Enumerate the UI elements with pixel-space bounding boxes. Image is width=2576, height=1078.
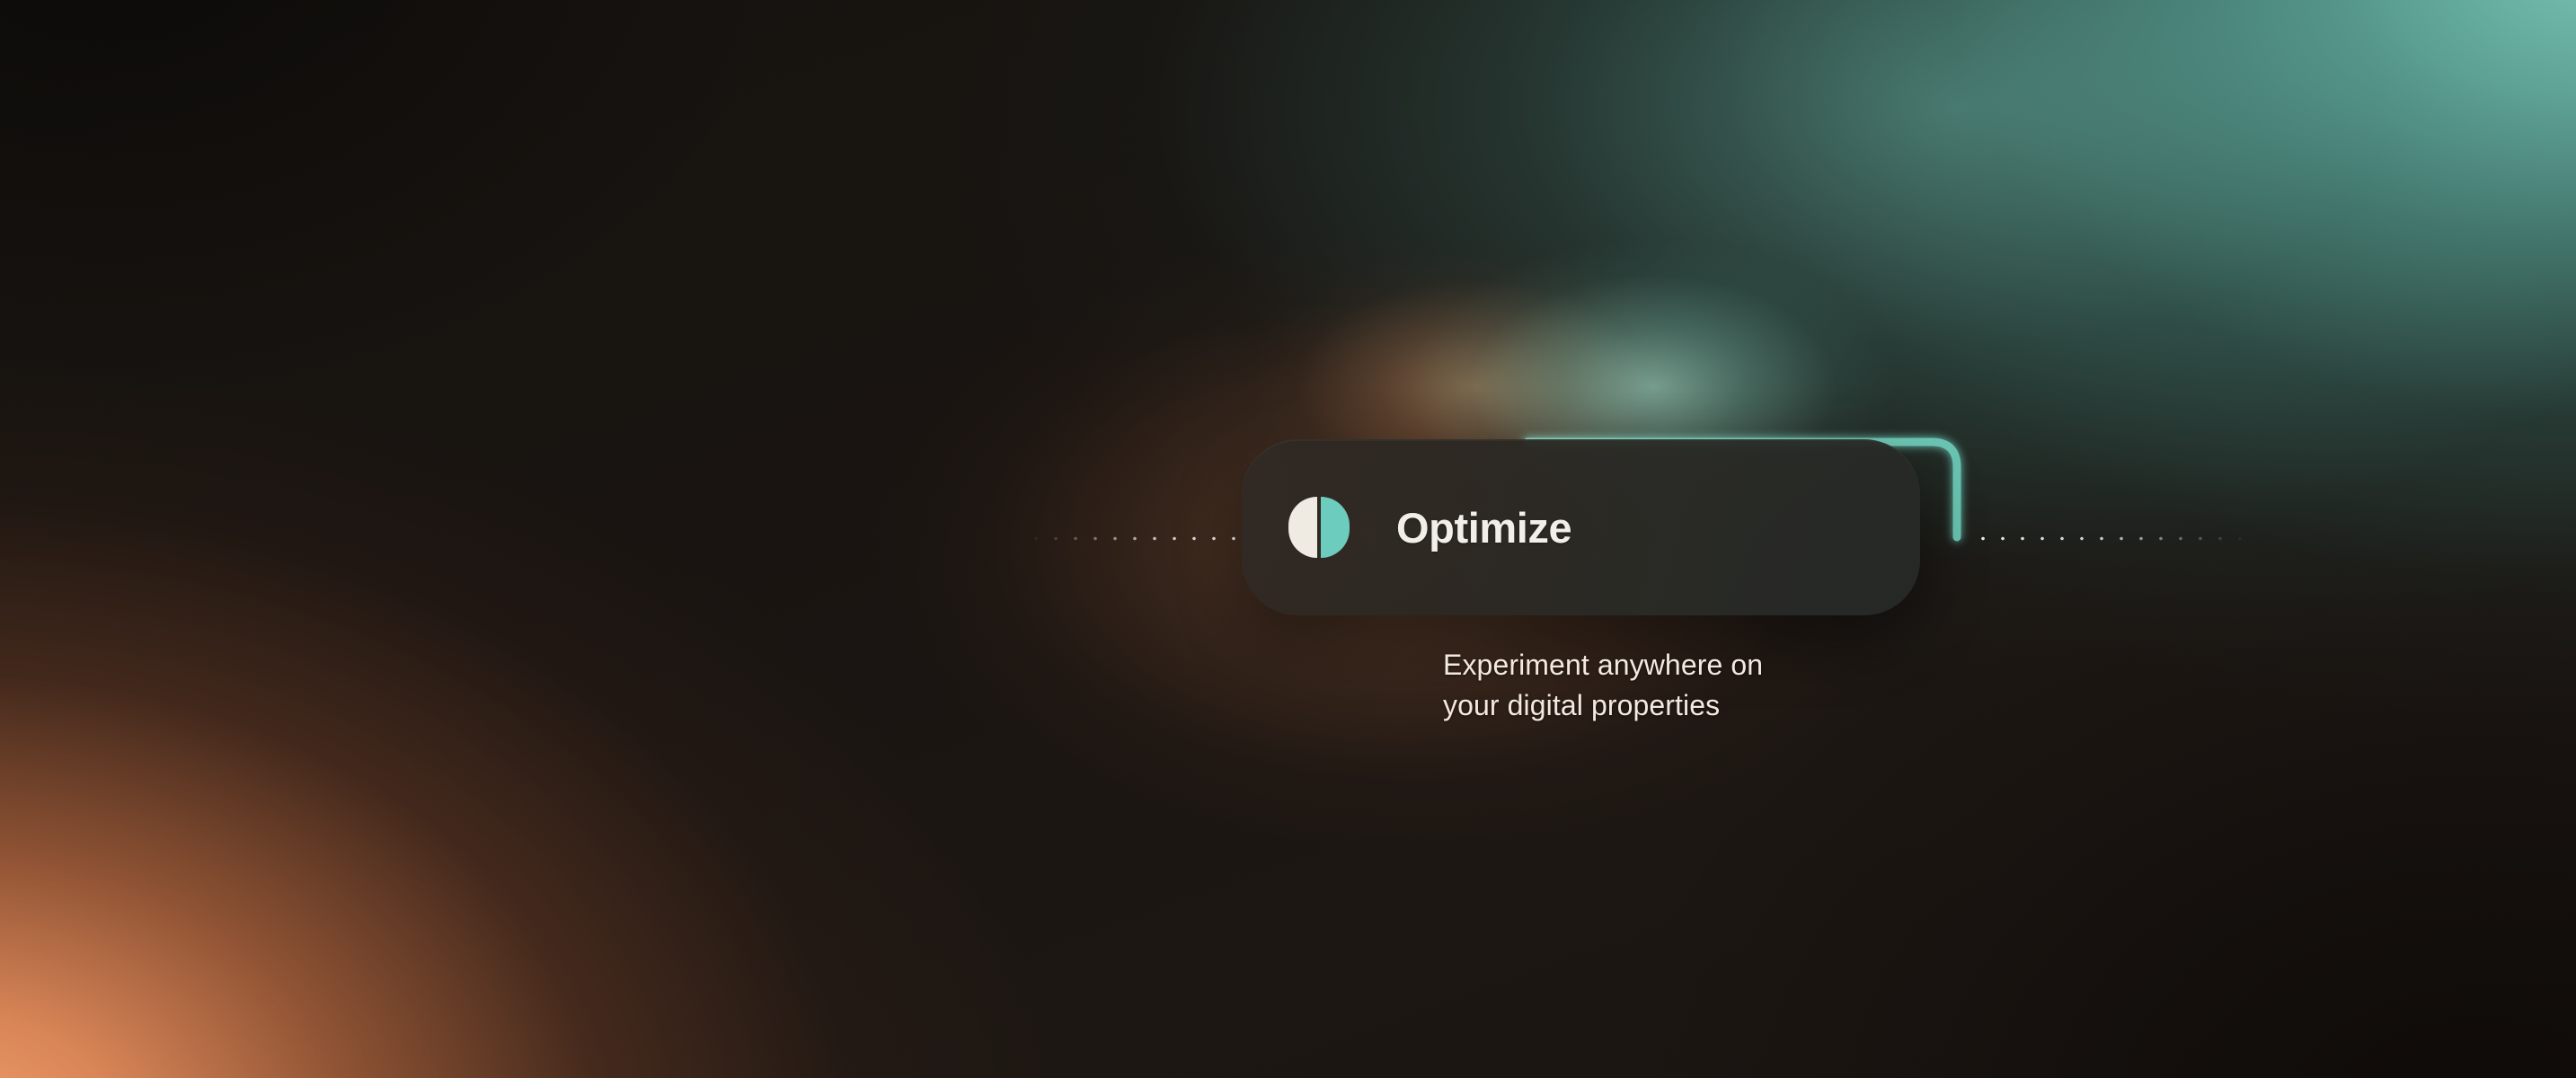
card-title: Optimize <box>1396 507 1571 549</box>
subtitle-line-2: your digital properties <box>1443 685 1910 726</box>
optimize-split-circle-logo <box>1288 497 1350 558</box>
subtitle-line-1: Experiment anywhere on <box>1443 645 1910 685</box>
dotted-connector-right <box>1973 535 2252 542</box>
logo-half-left-icon <box>1288 497 1317 558</box>
hero-scene: Optimize Experiment anywhere on your dig… <box>0 0 2576 1078</box>
logo-half-right-icon <box>1321 497 1350 558</box>
dotted-connector-left <box>1026 535 1242 542</box>
card-subtitle: Experiment anywhere on your digital prop… <box>1443 645 1910 727</box>
optimize-product-card[interactable]: Optimize <box>1242 439 1920 615</box>
